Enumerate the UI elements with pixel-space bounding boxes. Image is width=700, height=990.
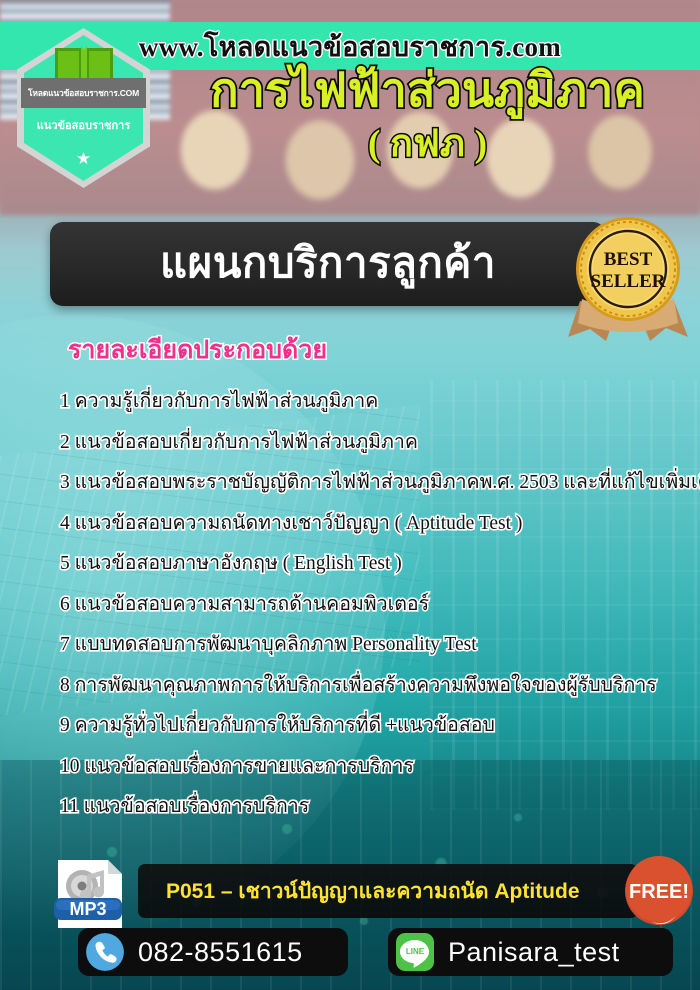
mp3-row: MP3 P051 – เชาวน์ปัญญาและความถนัด Aptitu… [52,856,652,926]
logo-badge: โหลดแนวข้อสอบราชการ.COM แนวข้อสอบราชการ … [17,28,150,188]
department-name: แผนกบริการลูกค้า [160,243,496,285]
organization-name: การไฟฟ้าส่วนภูมิภาค [155,68,700,115]
list-item: 8 การพัฒนาคุณภาพการให้บริการเพื่อสร้างคว… [60,676,700,696]
badge-line2: SELLER [591,271,666,292]
line-icon: LINE [396,933,434,971]
best-seller-badge-icon: BEST SELLER [562,215,694,343]
line-pill[interactable]: LINE Panisara_test [388,928,673,976]
logo-strip-text: โหลดแนวข้อสอบราชการ.COM [28,86,139,100]
contents-list: 1 ความรู้เกี่ยวกับการไฟฟ้าส่วนภูมิภาค 2 … [60,392,700,838]
mp3-title-bar: P051 – เชาวน์ปัญญาและความถนัด Aptitude [138,864,638,918]
list-item: 1 ความรู้เกี่ยวกับการไฟฟ้าส่วนภูมิภาค [60,392,700,412]
list-item: 11 แนวข้อสอบเรื่องการบริการ [60,797,700,817]
contact-row: 082-8551615 LINE Panisara_test [78,928,678,980]
line-id: Panisara_test [448,937,620,968]
mp3-file-icon: MP3 [52,858,130,930]
list-item: 9 ความรู้ทั่วไปเกี่ยวกับการให้บริการที่ด… [60,716,700,736]
phone-icon [86,933,124,971]
list-item: 5 แนวข้อสอบภาษาอังกฤษ ( English Test ) [60,554,700,574]
list-item: 7 แบบทดสอบการพัฒนาบุคลิกภาพ Personality … [60,635,700,655]
list-item: 2 แนวข้อสอบเกี่ยวกับการไฟฟ้าส่วนภูมิภาค [60,433,700,453]
phone-number: 082-8551615 [138,937,303,968]
badge-line1: BEST [604,249,653,270]
free-label: FREE! [629,881,689,903]
list-item: 4 แนวข้อสอบความถนัดทางเชาว์ปัญญา ( Aptit… [60,514,700,534]
mp3-label: MP3 [69,899,106,919]
logo-subtitle: แนวข้อสอบราชการ [17,116,150,134]
line-wordmark: LINE [406,947,425,956]
star-icon: ★ [76,150,91,167]
list-item: 3 แนวข้อสอบพระราชบัญญัติการไฟฟ้าส่วนภูมิ… [60,473,700,493]
free-sticker-icon: FREE! [622,856,696,930]
section-heading: รายละเอียดประกอบด้วย [68,330,327,370]
list-item: 10 แนวข้อสอบเรื่องการขายและการบริการ [60,757,700,777]
department-banner: แผนกบริการลูกค้า [50,222,606,306]
phone-pill[interactable]: 082-8551615 [78,928,348,976]
mp3-title: P051 – เชาวน์ปัญญาและความถนัด Aptitude [166,875,580,908]
organization-abbreviation: ( กฟภ ) [155,125,700,163]
site-url: www.โหลดแนวข้อสอบราชการ.com [139,25,561,68]
poster-canvas: www.โหลดแนวข้อสอบราชการ.com โหลดแนวข้อสอ… [0,0,700,990]
list-item: 6 แนวข้อสอบความสามารถด้านคอมพิวเตอร์ [60,595,700,615]
logo-strip: โหลดแนวข้อสอบราชการ.COM [21,78,146,108]
organization-title-block: การไฟฟ้าส่วนภูมิภาค ( กฟภ ) [155,68,700,163]
